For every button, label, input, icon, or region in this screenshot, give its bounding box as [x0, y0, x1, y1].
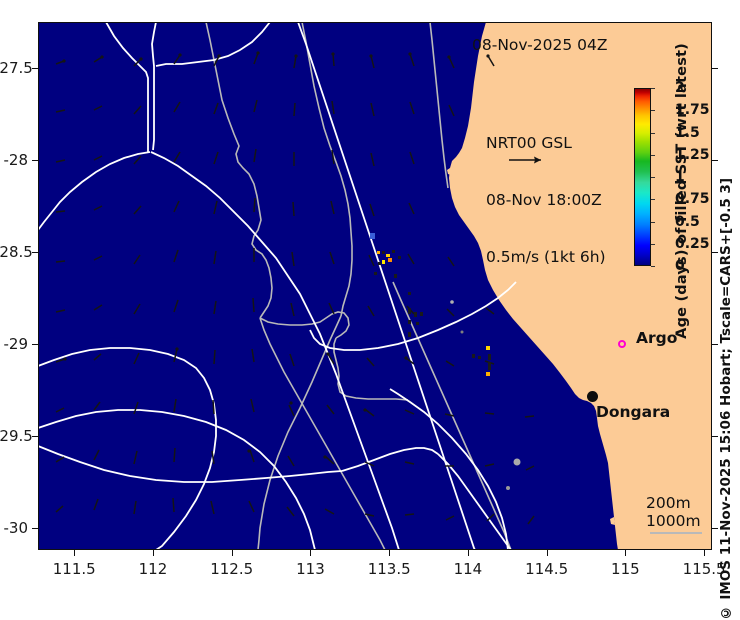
colorbar-tick: [651, 199, 655, 200]
argo-marker-icon: [618, 340, 626, 348]
current-scale-label: 0.5m/s (1kt 6h): [486, 248, 606, 267]
x-tick: [547, 550, 548, 556]
y-tick-label: -28: [0, 151, 28, 169]
colorbar-tick: [651, 155, 655, 156]
y-tick-right: [712, 68, 718, 69]
y-tick: [32, 252, 38, 253]
sst-age-patches: [38, 22, 712, 550]
y-tick-label: -29.5: [0, 427, 28, 445]
x-tick: [704, 550, 705, 556]
dongara-city-label: Dongara: [596, 403, 670, 421]
x-tick-label: 112: [139, 560, 168, 578]
y-tick-label: -27.5: [0, 59, 28, 77]
y-tick-label: -30: [0, 519, 28, 537]
x-tick-label: 113: [296, 560, 325, 578]
y-tick: [32, 528, 38, 529]
x-tick: [310, 550, 311, 556]
y-tick-label: -28.5: [0, 243, 28, 261]
x-tick: [74, 550, 75, 556]
x-tick-label: 113.5: [368, 560, 411, 578]
argo-legend-label: Argo: [636, 329, 677, 347]
depth-label-200m: 200m: [646, 494, 701, 512]
x-tick: [389, 550, 390, 556]
x-tick-label: 115: [611, 560, 640, 578]
y-tick-right: [712, 160, 718, 161]
y-tick: [32, 344, 38, 345]
colorbar-tick: [651, 88, 655, 89]
depth-contour-legend: 200m 1000m: [646, 494, 701, 530]
depth-label-1000m: 1000m: [646, 512, 701, 530]
colorbar-tick: [651, 222, 655, 223]
x-tick: [468, 550, 469, 556]
x-tick: [232, 550, 233, 556]
x-tick-label: 112.5: [210, 560, 253, 578]
current-source-block: NRT00 GSL 08-Nov 18:00Z 0.5m/s (1kt 6h): [486, 96, 606, 305]
depth-legend-rule: [650, 532, 702, 534]
colorbar-tick: [651, 110, 655, 111]
x-tick-label: 114.5: [525, 560, 568, 578]
y-tick-label: -29: [0, 335, 28, 353]
x-tick: [625, 550, 626, 556]
current-scale-arrow-icon: [508, 154, 548, 166]
dongara-marker-icon: [587, 391, 598, 402]
colorbar-tick: [651, 244, 655, 245]
date-stamp-label: 08-Nov-2025 04Z: [472, 36, 607, 54]
y-tick: [32, 160, 38, 161]
colorbar-gradient: [634, 88, 651, 266]
colorbar-tick: [651, 177, 655, 178]
colorbar-tick: [651, 133, 655, 134]
current-source-line2: 08-Nov 18:00Z: [486, 191, 606, 210]
y-tick: [32, 68, 38, 69]
colorbar-title: Age (days) of filled SST (wrt latest): [674, 43, 690, 339]
y-tick: [32, 436, 38, 437]
figure-root: 08-Nov-2025 04Z NRT00 GSL 08-Nov 18:00Z …: [0, 0, 740, 592]
x-tick-label: 111.5: [53, 560, 96, 578]
colorbar-tick: [651, 266, 655, 267]
current-source-line1: NRT00 GSL: [486, 134, 606, 153]
x-tick: [153, 550, 154, 556]
credit-text: © IMOS 11-Nov-2025 15:06 Hobart; Tscale=…: [718, 178, 734, 620]
map-plot-area[interactable]: 08-Nov-2025 04Z NRT00 GSL 08-Nov 18:00Z …: [38, 22, 712, 550]
x-tick-label: 114: [454, 560, 483, 578]
